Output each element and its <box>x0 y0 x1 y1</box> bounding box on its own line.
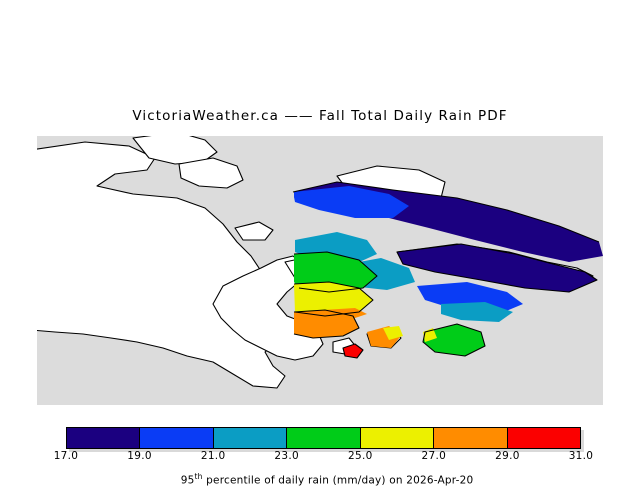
colorbar-caption: 95th percentile of daily rain (mm/day) o… <box>0 460 640 499</box>
map-panel[interactable] <box>37 136 603 405</box>
weather-map-figure: VictoriaWeather.ca —— Fall Total Daily R… <box>0 0 640 480</box>
colorbar-segment-17.0-19.0[interactable] <box>67 428 140 448</box>
colorbar-segment-19.0-21.0[interactable] <box>140 428 213 448</box>
colorbar-segment-23.0-25.0[interactable] <box>287 428 360 448</box>
page-title: VictoriaWeather.ca —— Fall Total Daily R… <box>0 108 640 124</box>
colorbar-segments[interactable] <box>66 427 581 449</box>
colorbar-segment-27.0-29.0[interactable] <box>434 428 507 448</box>
colorbar[interactable] <box>66 427 581 449</box>
caption-percentile-number: 95 <box>181 475 195 487</box>
colorbar-segment-21.0-23.0[interactable] <box>214 428 287 448</box>
caption-rest: percentile of daily rain (mm/day) on 202… <box>203 475 474 487</box>
colorbar-segment-25.0-27.0[interactable] <box>361 428 434 448</box>
map-canvas[interactable] <box>37 136 603 405</box>
colorbar-segment-29.0-31.0[interactable] <box>508 428 580 448</box>
